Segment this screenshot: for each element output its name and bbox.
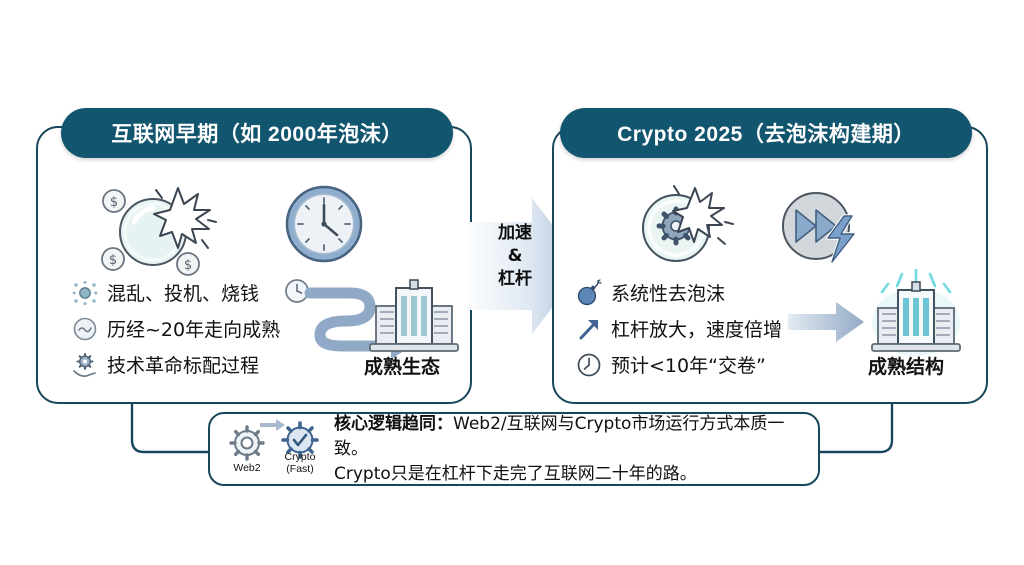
callout-lead: 核心逻辑趋同： xyxy=(334,414,453,434)
callout-icon-group: Web2 Crypto (Fast) xyxy=(216,416,334,482)
callout-text: 核心逻辑趋同：Web2/互联网与Crypto市场运行方式本质一致。 Crypto… xyxy=(334,412,818,487)
straight-arrow xyxy=(788,300,864,344)
wall-clock-icon xyxy=(283,183,365,265)
list-item: 预计<10年“交卷” xyxy=(576,348,782,381)
infographic-canvas: 互联网早期（如 2000年泡沫） $$$ xyxy=(0,0,1024,565)
list-item: 技术革命标配过程 xyxy=(72,348,280,381)
connector-left xyxy=(132,404,214,452)
bomb-icon xyxy=(576,280,602,306)
list-item: 历经~20年走向成熟 xyxy=(72,312,280,345)
list-item-label: 系统性去泡沫 xyxy=(611,279,725,306)
center-arrow-line-3: 杠杆 xyxy=(472,268,558,291)
trending-up-arrow-icon xyxy=(576,316,602,342)
gear-caption-crypto-line2: (Fast) xyxy=(272,464,328,476)
glowing-office-building-icon xyxy=(864,270,968,356)
center-arrow-line-2: & xyxy=(472,245,558,268)
fast-forward-lightning-icon xyxy=(772,186,876,274)
svg-text:$: $ xyxy=(110,195,118,210)
bursting-bubble-with-coins-icon: $$$ xyxy=(96,170,216,278)
list-item-label: 技术革命标配过程 xyxy=(107,351,259,378)
svg-text:$: $ xyxy=(184,258,192,273)
clock-outline-icon xyxy=(576,352,602,378)
svg-text:$: $ xyxy=(109,253,117,268)
clock-circle-icon xyxy=(72,316,98,342)
list-item: 杠杆放大，速度倍增 xyxy=(576,312,782,345)
bullet-list-left: 混乱、投机、烧钱 历经~20年走向成熟 xyxy=(72,276,280,384)
outcome-label-left: 成熟生态 xyxy=(364,352,440,379)
office-building-icon xyxy=(368,278,460,354)
list-item-label: 混乱、投机、烧钱 xyxy=(107,279,259,306)
chaos-burst-icon xyxy=(72,280,98,306)
center-arrow-label: 加速 & 杠杆 xyxy=(472,222,558,291)
outcome-label-right: 成熟结构 xyxy=(868,352,944,379)
list-item-label: 杠杆放大，速度倍增 xyxy=(611,315,782,342)
callout-line-2: Crypto只是在杠杆下走完了互联网二十年的路。 xyxy=(334,462,818,487)
list-item: 系统性去泡沫 xyxy=(576,276,782,309)
gear-in-hand-icon xyxy=(72,352,98,378)
panel-right-title: Crypto 2025（去泡沫构建期） xyxy=(560,108,972,158)
callout-box: Web2 Crypto (Fast) 核心逻辑趋同：Web2/互联网与Crypt… xyxy=(208,412,820,486)
panel-left-title: 互联网早期（如 2000年泡沫） xyxy=(61,108,453,158)
callout-line-1: 核心逻辑趋同：Web2/互联网与Crypto市场运行方式本质一致。 xyxy=(334,412,818,462)
gear-caption-web2: Web2 xyxy=(224,463,270,475)
connector-right xyxy=(814,404,892,452)
gear-burst-icon xyxy=(632,180,740,272)
center-arrow-line-1: 加速 xyxy=(472,222,558,245)
gear-caption-crypto-line1: Crypto xyxy=(272,452,328,464)
list-item: 混乱、投机、烧钱 xyxy=(72,276,280,309)
list-item-label: 预计<10年“交卷” xyxy=(611,351,766,378)
list-item-label: 历经~20年走向成熟 xyxy=(107,315,280,342)
gear-caption-crypto: Crypto (Fast) xyxy=(272,452,328,475)
bullet-list-right: 系统性去泡沫 杠杆放大，速度倍增 预计<10年“交卷” xyxy=(576,276,782,384)
